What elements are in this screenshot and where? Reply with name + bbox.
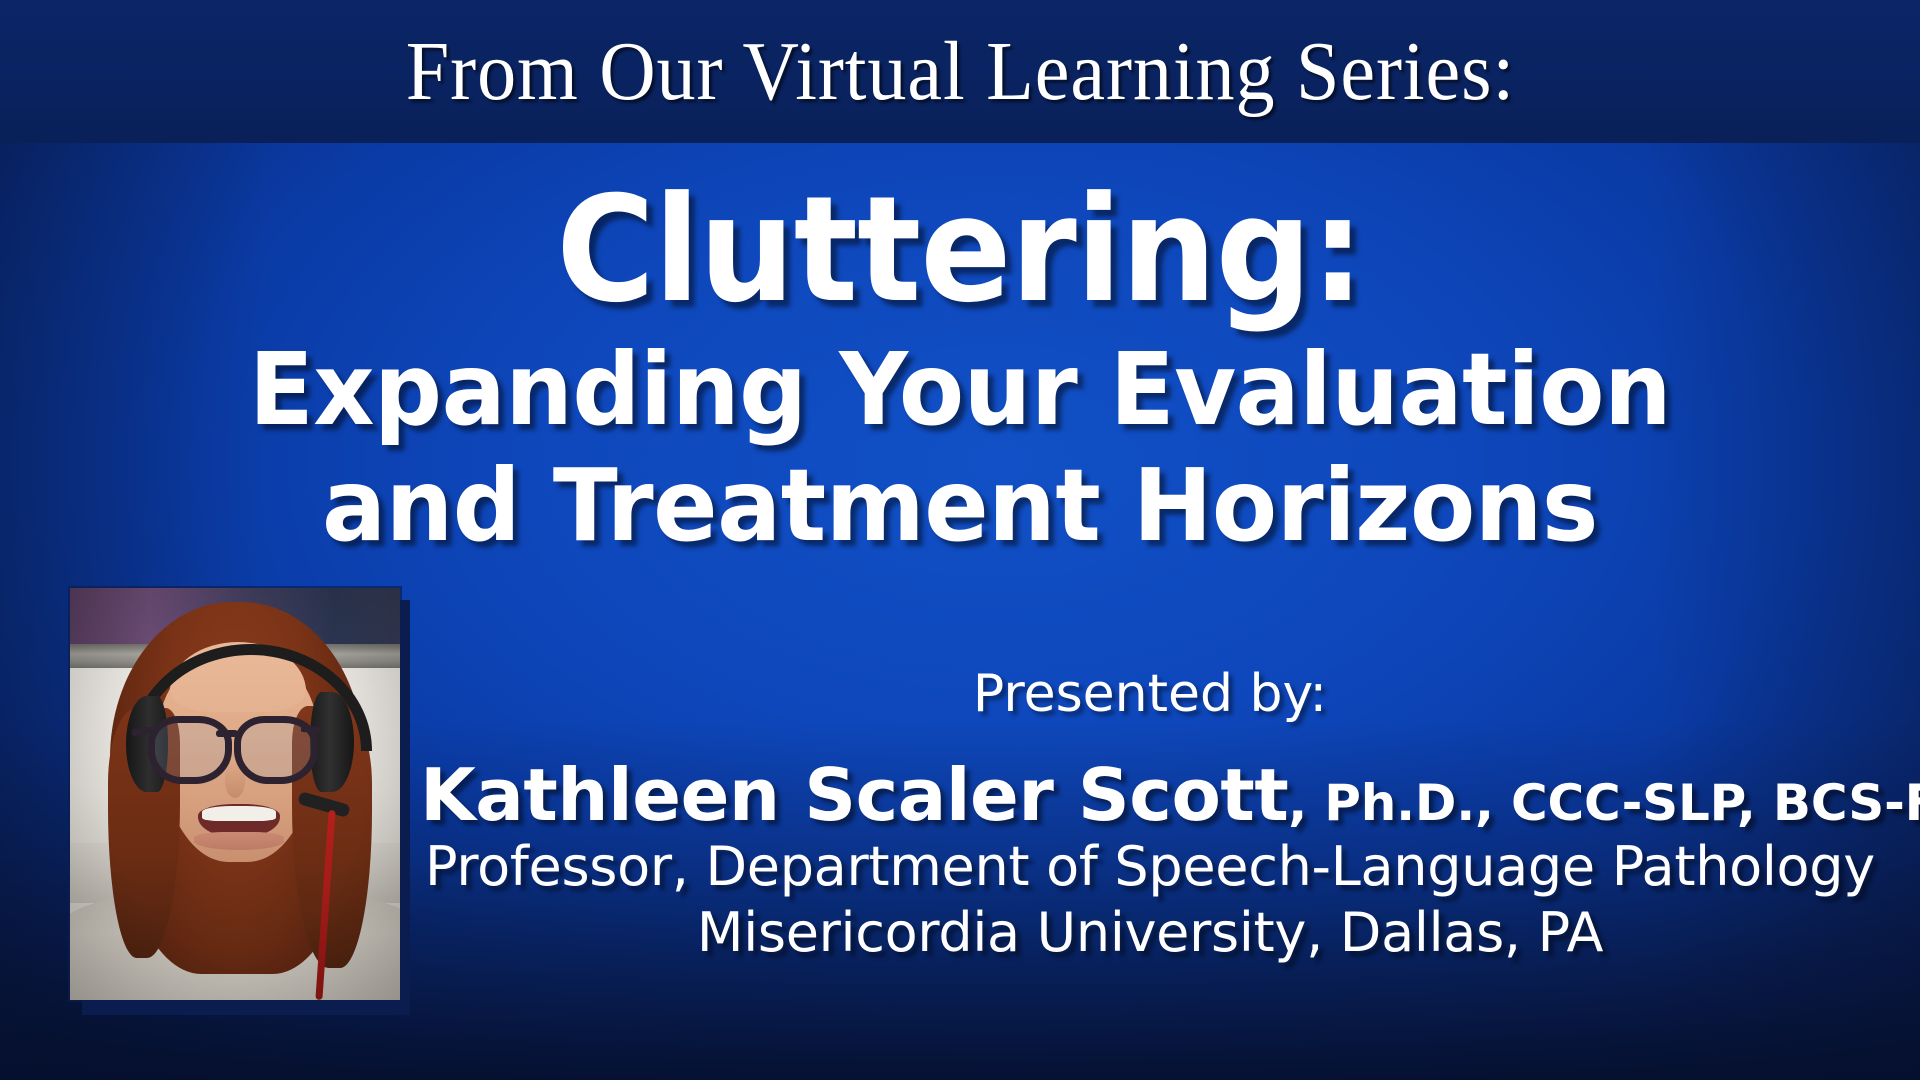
page-title: Cluttering: <box>77 176 1843 325</box>
presenter-affiliation-line-2: Misericordia University, Dallas, PA <box>420 901 1880 965</box>
presenter-name-line: Kathleen Scaler Scott, Ph.D., CCC-SLP, B… <box>420 758 1880 833</box>
title-block: Cluttering: Expanding Your Evaluation an… <box>0 176 1920 567</box>
presentation-slide: From Our Virtual Learning Series: Clutte… <box>0 0 1920 1080</box>
presenter-photo <box>70 588 400 1000</box>
header-band: From Our Virtual Learning Series: <box>0 0 1920 143</box>
presented-by-label: Presented by: <box>420 668 1880 720</box>
subtitle-line-2: and Treatment Horizons <box>48 445 1872 567</box>
presenter-credentials: , Ph.D., CCC-SLP, BCS-F <box>1288 774 1920 832</box>
header-title: From Our Virtual Learning Series: <box>405 30 1514 114</box>
presenter-name: Kathleen Scaler Scott <box>420 753 1288 837</box>
presenter-affiliation-line-1: Professor, Department of Speech-Language… <box>420 835 1880 899</box>
subtitle-line-1: Expanding Your Evaluation <box>48 329 1872 451</box>
photo-vignette <box>70 588 400 1000</box>
presenter-block: Presented by: Kathleen Scaler Scott, Ph.… <box>420 668 1880 964</box>
